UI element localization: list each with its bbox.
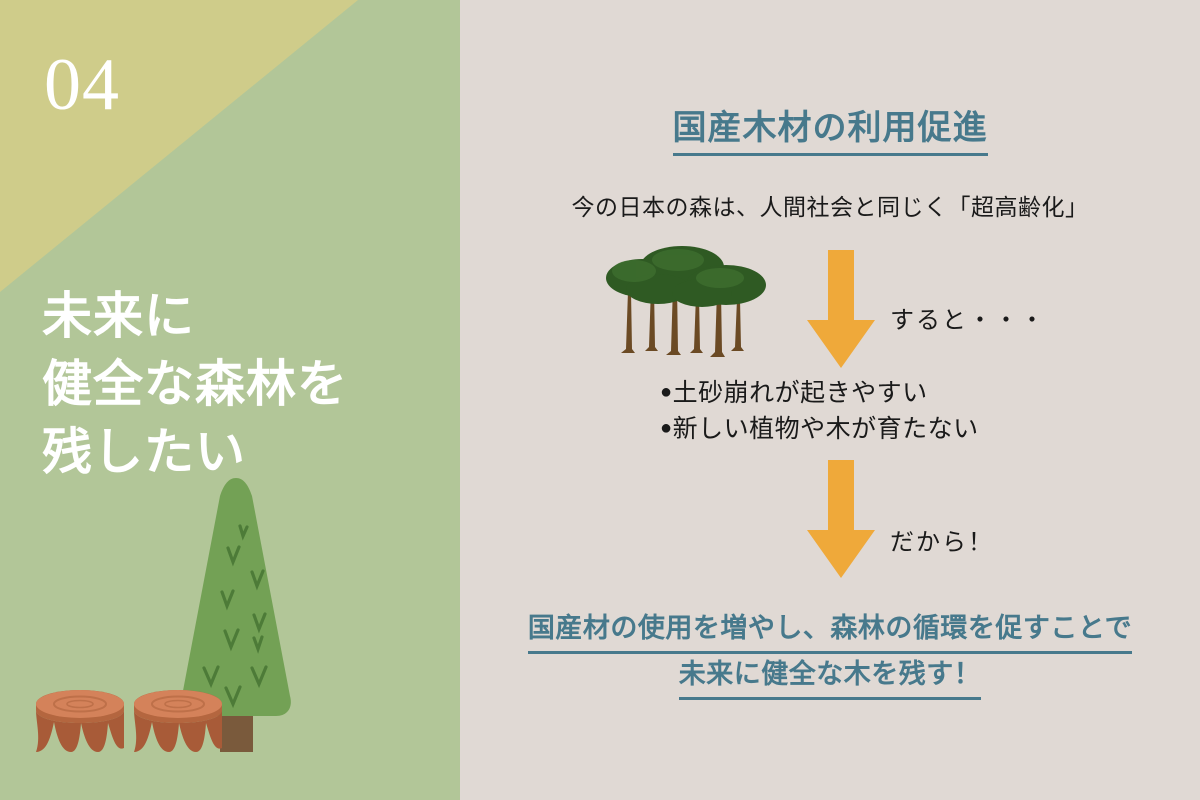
conclusion-row-1: 国産材の使用を増やし、森林の循環を促すことで <box>460 608 1200 654</box>
page-title-line-1: 未来に <box>42 282 442 350</box>
consequence-list: ●土砂崩れが起きやすい ●新しい植物や木が育たない <box>660 375 979 448</box>
right-panel: 国産木材の利用促進 今の日本の森は、人間社会と同じく「超高齢化」 <box>460 0 1200 800</box>
conclusion-block: 国産材の使用を増やし、森林の循環を促すことで 未来に健全な木を残す！ <box>460 608 1200 700</box>
list-item: ●新しい植物や木が育たない <box>660 411 979 447</box>
page-title-line-2: 健全な森林を <box>42 350 442 418</box>
tree-stump-right-icon <box>134 690 222 752</box>
list-item-label: 土砂崩れが起きやすい <box>673 379 928 407</box>
left-panel: 04 未来に 健全な森林を 残したい <box>0 0 460 800</box>
conclusion-line-2: 未来に健全な木を残す！ <box>679 654 982 700</box>
section-heading-text: 国産木材の利用促進 <box>673 100 988 156</box>
down-arrow-icon-1 <box>805 250 877 370</box>
conclusion-line-1: 国産材の使用を増やし、森林の循環を促すことで <box>528 608 1132 654</box>
left-illustration-group <box>0 460 460 800</box>
conclusion-row-2: 未来に健全な木を残す！ <box>460 654 1200 700</box>
forest-trees-icon <box>590 245 775 365</box>
bullet-marker: ● <box>660 381 673 403</box>
page-title: 未来に 健全な森林を 残したい <box>42 282 442 486</box>
list-item-label: 新しい植物や木が育たない <box>673 415 979 443</box>
therefore-label: だから！ <box>890 522 994 557</box>
then-label: すると・・・ <box>890 300 1046 335</box>
section-subtitle: 今の日本の森は、人間社会と同じく「超高齢化」 <box>460 188 1200 222</box>
bullet-marker: ● <box>660 417 673 439</box>
list-item: ●土砂崩れが起きやすい <box>660 375 979 411</box>
section-number: 04 <box>44 48 120 122</box>
slide-canvas: 04 未来に 健全な森林を 残したい <box>0 0 1200 800</box>
section-heading: 国産木材の利用促進 <box>460 100 1200 156</box>
tree-stump-left-icon <box>36 690 124 752</box>
down-arrow-icon-2 <box>805 460 877 580</box>
